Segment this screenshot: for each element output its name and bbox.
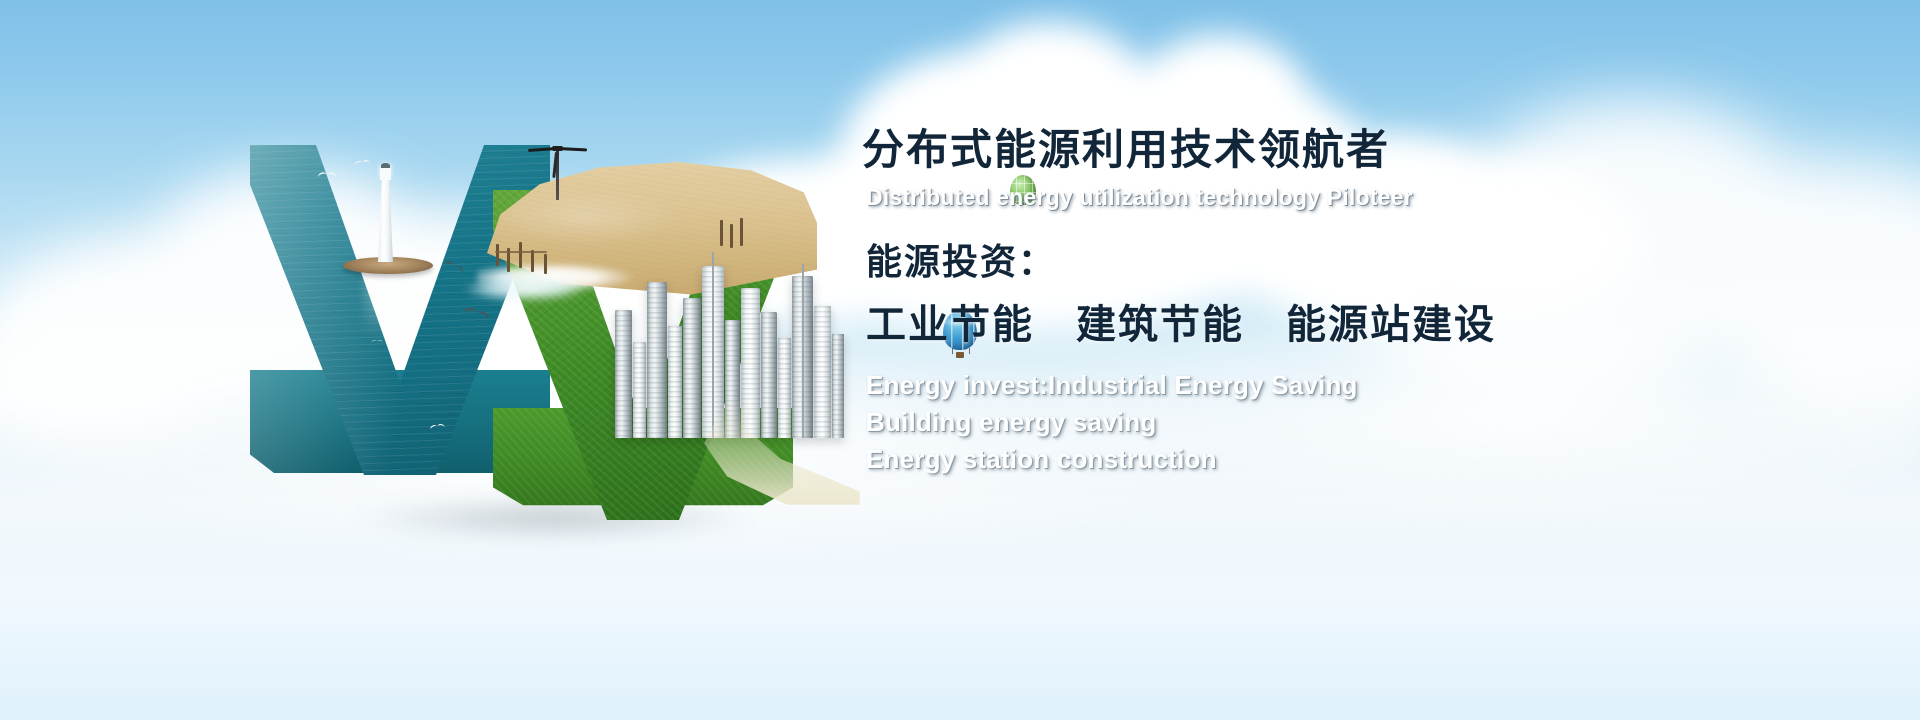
beach-fence-icon <box>544 254 547 274</box>
seagull-icon <box>354 157 369 166</box>
skyscraper-icon <box>832 334 844 438</box>
skyscraper-icon <box>668 326 682 438</box>
services-english-line-2: Building energy saving <box>866 404 1862 441</box>
seagull-icon <box>372 338 383 343</box>
skyscraper-icon <box>683 298 701 438</box>
skyscraper-icon <box>633 342 646 438</box>
skyscraper-spire <box>802 264 804 438</box>
services-chinese: 工业节能 建筑节能 能源站建设 <box>866 301 1862 349</box>
beach-fence-icon <box>519 242 522 268</box>
headline-chinese: 分布式能源利用技术领航者 <box>862 126 1862 174</box>
services-english-line-3: Energy station construction <box>866 441 1862 478</box>
beach-fence-icon <box>496 244 499 266</box>
banner-text-block: 分布式能源利用技术领航者 Distributed energy utilizat… <box>862 126 1862 478</box>
services-english-line-1: Energy invest:Industrial Energy Saving <box>866 367 1862 404</box>
lighthouse-cap-icon <box>381 163 390 168</box>
surf-foam <box>461 275 591 303</box>
hero-banner: 分布式能源利用技术领航者 Distributed energy utilizat… <box>0 0 1920 720</box>
skyscraper-icon <box>761 312 777 438</box>
seagull-icon <box>429 421 444 430</box>
lighthouse-lantern-icon <box>380 167 391 180</box>
wind-turbine-hub <box>552 146 563 151</box>
skyscraper-icon <box>814 306 831 438</box>
skyscraper-icon <box>647 282 667 438</box>
lighthouse-reflection <box>367 278 409 338</box>
headline-english: Distributed energy utilization technolog… <box>866 184 1862 212</box>
services-english-group: Energy invest:Industrial Energy Saving B… <box>862 367 1862 478</box>
seagull-icon <box>318 169 336 177</box>
section-label-chinese: 能源投资： <box>866 240 1862 283</box>
w-letter-artwork <box>215 120 855 520</box>
skyscraper-spire <box>712 252 714 438</box>
beach-fence-rail <box>495 251 547 253</box>
beach-fence-icon <box>531 250 534 272</box>
skyscraper-icon <box>615 310 632 438</box>
skyscraper-icon <box>778 338 791 438</box>
